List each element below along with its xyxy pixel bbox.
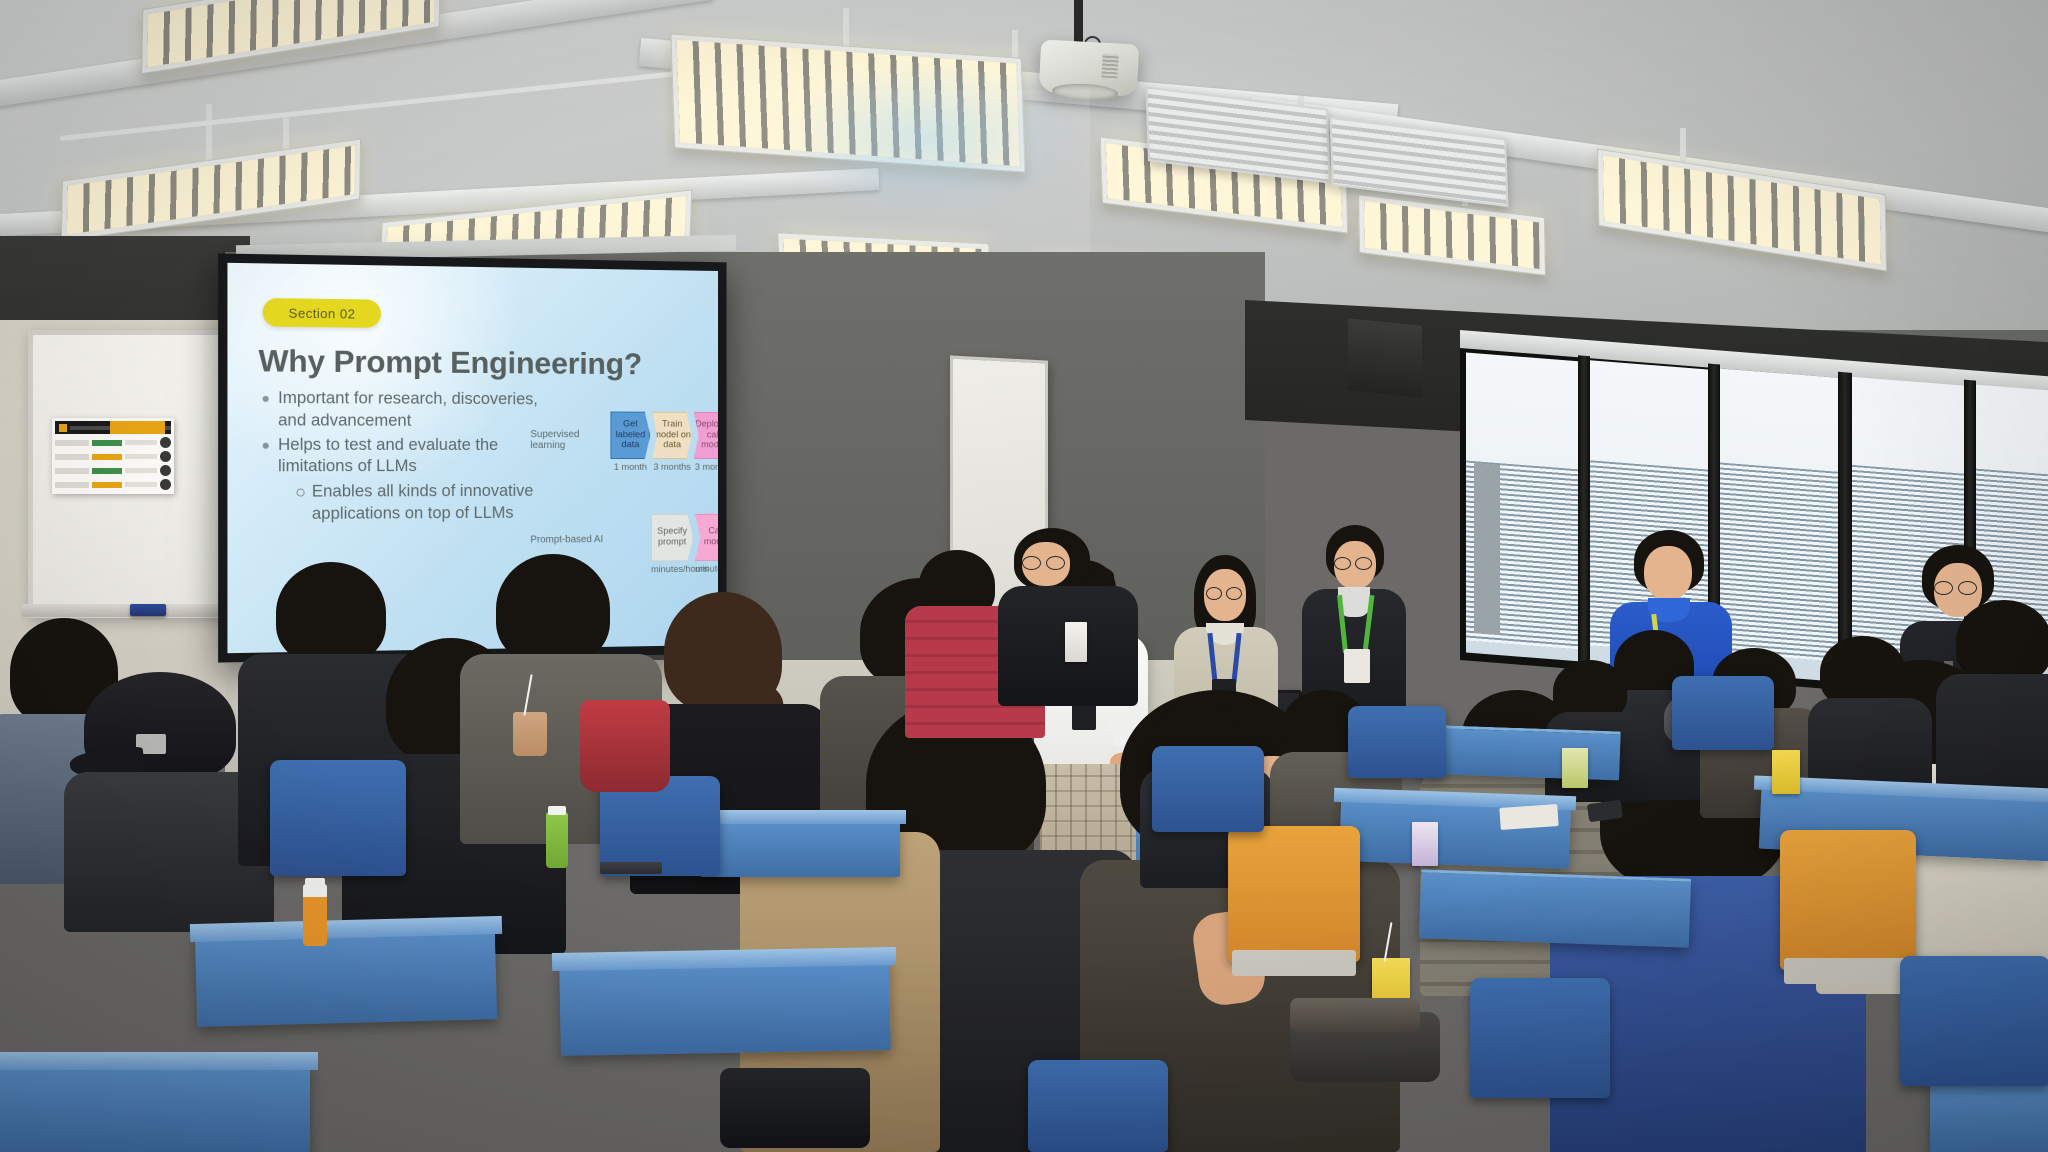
slide-bullets: Important for research, discoveries, and… [261,388,541,528]
window-pane[interactable] [1466,352,1578,661]
chair-blue[interactable] [1470,978,1610,1098]
whiteboard-eraser[interactable] [130,604,166,616]
iced-coffee-cup[interactable] [513,712,547,756]
student-desk-top [0,1052,318,1070]
audience-member [1810,636,1930,786]
handbag[interactable] [720,1068,870,1148]
lecture-hall-photo: Section 02 Why Prompt Engineering? Impor… [0,0,2048,1152]
person-hair [1956,600,2048,684]
glasses-icon [1226,587,1242,600]
window-mullion [1578,355,1590,664]
laptop[interactable] [600,862,662,874]
glasses-icon [1206,587,1222,600]
chair-blue[interactable] [1672,676,1774,750]
diagram-step-duration: 3 months [652,462,692,473]
draped-jacket [580,700,670,792]
poster-row [55,465,171,476]
diagram-step-duration: minutes/hours [651,564,693,575]
diagram-step: Train model on data [652,412,692,459]
pencil-case[interactable] [1290,998,1420,1032]
glasses-icon [1334,557,1351,570]
projector-mount [1074,0,1083,42]
poster-row [55,451,171,462]
slide-bullet: Important for research, discoveries, and… [261,388,541,433]
diagram-step: Get labeled data [610,412,650,459]
chair-orange[interactable] [1228,826,1360,962]
diagram-step: Call model [695,514,718,561]
chair-blue[interactable] [1152,746,1264,832]
green-drink-carton[interactable] [1562,748,1588,788]
slide-bullet-text: Helps to test and evaluate the limitatio… [278,435,498,475]
diagram-row-prompt: Specify prompt minutes/hours Call model … [651,514,718,575]
slide-sub-bullet-text: Enables all kinds of innovative applicat… [312,482,534,523]
glasses-icon [1934,581,1953,595]
slide-section-badge: Section 02 [263,298,381,328]
yellow-drink-carton[interactable] [1772,750,1800,794]
slide-title: Why Prompt Engineering? [258,343,714,383]
student-desk [559,957,891,1056]
diagram-step-text: Specify prompt [652,527,692,548]
person-face [1644,546,1692,600]
purple-drink-carton[interactable] [1412,822,1438,866]
wall-poster [52,418,174,494]
diagram-step-text: Call model [696,527,718,548]
chair-blue[interactable] [1900,956,2048,1086]
poster-accent-bar [110,421,165,434]
student-desk [195,926,497,1027]
diagram-step-duration: 1 month [610,462,650,473]
white-drink-carton[interactable] [1065,622,1087,662]
person-hair [496,554,610,664]
light-haze [780,58,1080,218]
bottle-cap [548,806,566,815]
poster-row [55,479,171,490]
glasses-icon [1958,581,1977,595]
diagram-step: Specify prompt [651,514,693,561]
chair-blue[interactable] [1348,706,1446,778]
green-water-bottle[interactable] [546,812,568,868]
glasses-icon [1355,557,1372,570]
glasses-icon [1046,556,1065,570]
bottle-cap [305,878,325,888]
slide-bullet-text: Important for research, discoveries, and… [278,389,538,430]
diagram-step-text: Get labeled data [611,420,649,452]
diagram-step-duration: minutes/hours [695,564,718,575]
diagram-row-label: Prompt-based AI [530,534,608,545]
projector-vent [1101,54,1118,81]
slide-sub-bullet: Enables all kinds of innovative applicat… [294,481,540,526]
student-desk [1419,869,1691,947]
student-desk-top [694,810,906,824]
building-outside [1474,463,1500,635]
paper-sheet [1499,804,1558,830]
wall-speaker [1348,318,1422,398]
student-desk [1930,1080,2048,1152]
window-pane[interactable] [1720,368,1838,681]
diagram-step-text: Deploy & call model [695,420,718,451]
diagram-step-text: Train model on data [653,420,691,451]
chair-orange[interactable] [1780,830,1916,970]
chair-blue[interactable] [1028,1060,1168,1152]
audience-member [1004,528,1134,708]
chair-base [1232,950,1356,976]
student-desk [1419,725,1621,781]
chair-base [1784,958,1912,984]
student-desk [0,1064,310,1152]
diagram-row-label: Supervised learning [530,429,608,451]
section-badge-label: Section 02 [289,305,356,321]
diagram-step-duration: 3 months [694,462,718,473]
chair-blue[interactable] [270,760,406,876]
diagram-step: Deploy & call model [694,412,718,459]
diagram-row-supervised: Get labeled data 1 month Train model on … [610,412,718,473]
window-blind[interactable] [1720,462,1838,661]
slide-bullet: Helps to test and evaluate the limitatio… [261,434,541,526]
glasses-icon [1022,556,1041,570]
student-desk [700,818,900,877]
person-badge [1344,649,1370,683]
orange-tea-bottle[interactable] [303,884,327,946]
poster-row [55,437,171,448]
